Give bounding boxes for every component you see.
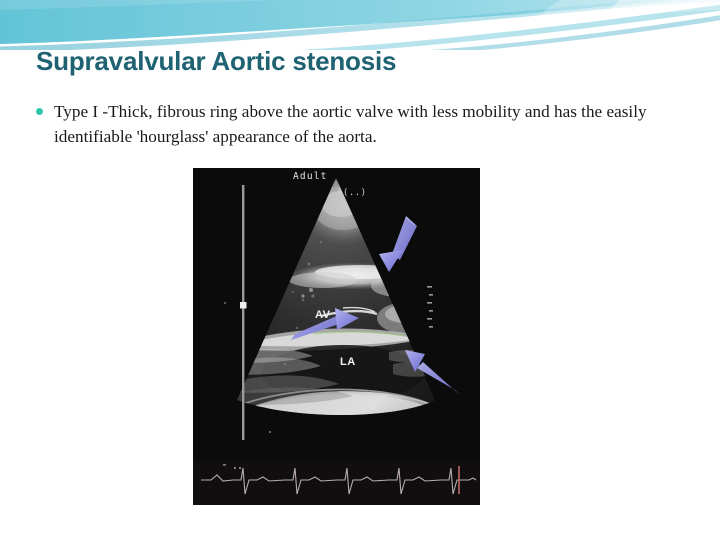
echocardiogram-image: Adult A(..) AV LA: [193, 168, 480, 505]
slide-canvas: Supravalvular Aortic stenosis Type I -Th…: [0, 0, 720, 539]
header-decorative-band: [0, 0, 720, 50]
slide-body: Type I -Thick, fibrous ring above the ao…: [36, 100, 696, 150]
bullet-dot-icon: [36, 108, 43, 115]
ecg-trace: [193, 460, 480, 505]
bullet-item: Type I -Thick, fibrous ring above the ao…: [36, 100, 696, 150]
page-title: Supravalvular Aortic stenosis: [36, 46, 686, 77]
bullet-text: Type I -Thick, fibrous ring above the ao…: [54, 100, 696, 150]
